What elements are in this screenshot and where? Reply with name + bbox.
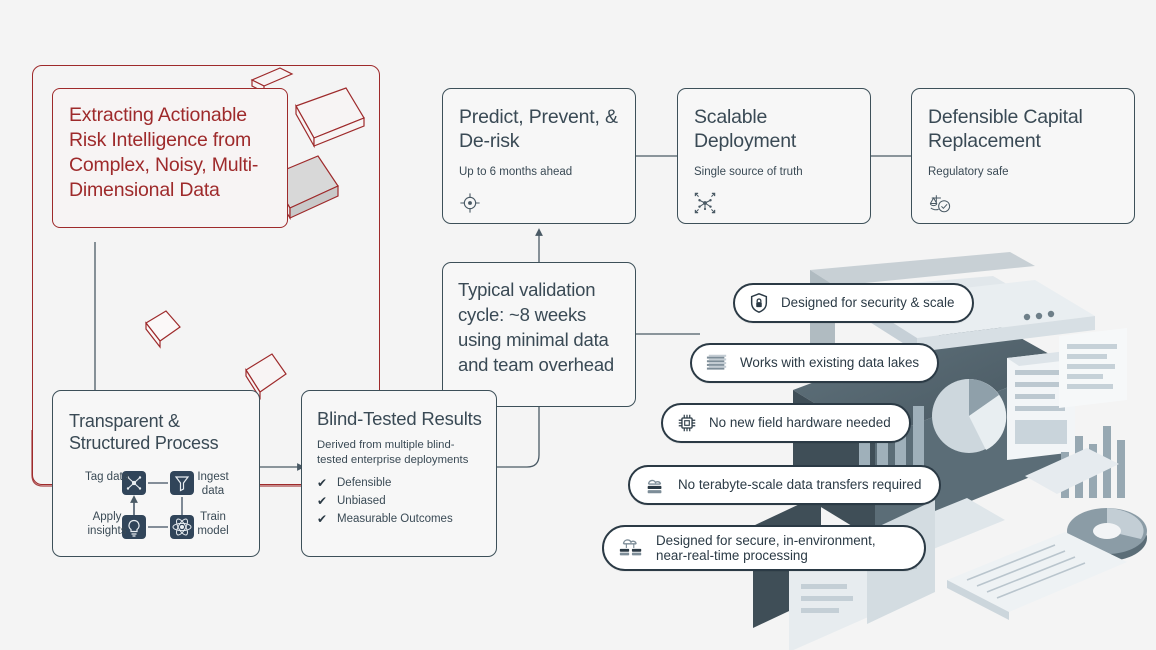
list-item-label: Unbiased xyxy=(337,492,386,510)
card-predict-prevent-derisk[interactable]: Predict, Prevent, & De-risk Up to 6 mont… xyxy=(442,88,636,224)
check-icon: ✔ xyxy=(317,492,329,510)
card-title: Defensible Capital Replacement xyxy=(928,105,1118,153)
card-title: Transparent & Structured Process xyxy=(69,410,243,454)
crosshair-target-icon xyxy=(459,192,619,219)
card-title: Typical validation cycle: ~8 weeks using… xyxy=(458,277,620,377)
pill-label: No terabyte-scale data transfers require… xyxy=(678,477,921,493)
list-item: ✔ Defensible xyxy=(317,474,482,492)
pill-designed-for-security-and-scale[interactable]: Designed for security & scale xyxy=(733,283,974,323)
results-checklist: ✔ Defensible ✔ Unbiased ✔ Measurable Out… xyxy=(317,474,482,528)
card-subtitle: Regulatory safe xyxy=(928,165,1118,180)
card-subtitle: Derived from multiple blind-tested enter… xyxy=(317,438,482,467)
network-scale-icon xyxy=(694,192,854,219)
check-icon: ✔ xyxy=(317,510,329,528)
headline-card: Extracting Actionable Risk Intelligence … xyxy=(52,88,288,228)
list-item: ✔ Measurable Outcomes xyxy=(317,510,482,528)
decorative-book-small xyxy=(138,305,188,355)
card-title: Scalable Deployment xyxy=(694,105,854,153)
pill-no-new-field-hardware-needed[interactable]: No new field hardware needed xyxy=(661,403,911,443)
pill-label: Designed for security & scale xyxy=(781,295,954,311)
pill-label: Works with existing data lakes xyxy=(740,355,919,371)
data-grid-icon xyxy=(705,352,729,374)
card-subtitle: Single source of truth xyxy=(694,165,854,180)
card-scalable-deployment[interactable]: Scalable Deployment Single source of tru… xyxy=(677,88,871,224)
process-label-train-model: Train model xyxy=(185,510,241,538)
pill-designed-for-secure-in-environment-processing[interactable]: Designed for secure, in-environment, nea… xyxy=(602,525,926,571)
list-item-label: Defensible xyxy=(337,474,391,492)
process-label-apply-insights: Apply insights xyxy=(79,510,135,538)
infographic-canvas: Extracting Actionable Risk Intelligence … xyxy=(0,0,1156,650)
list-item-label: Measurable Outcomes xyxy=(337,510,453,528)
pill-label: Designed for secure, in-environment, nea… xyxy=(656,533,906,563)
pill-label: No new field hardware needed xyxy=(709,415,891,431)
process-label-tag-data: Tag data xyxy=(79,470,135,484)
card-blind-tested-results[interactable]: Blind-Tested Results Derived from multip… xyxy=(301,390,497,557)
card-typical-validation-cycle[interactable]: Typical validation cycle: ~8 weeks using… xyxy=(442,262,636,407)
page-title: Extracting Actionable Risk Intelligence … xyxy=(69,103,271,203)
scales-check-icon xyxy=(928,192,1118,219)
card-title: Predict, Prevent, & De-risk xyxy=(459,105,619,153)
shield-lock-icon xyxy=(748,292,770,314)
list-item: ✔ Unbiased xyxy=(317,492,482,510)
pill-no-terabyte-scale-data-transfers-required[interactable]: No terabyte-scale data transfers require… xyxy=(628,465,941,505)
check-icon: ✔ xyxy=(317,474,329,492)
card-transparent-structured-process[interactable]: Transparent & Structured Process Tag dat… xyxy=(52,390,260,557)
card-title: Blind-Tested Results xyxy=(317,407,482,430)
pill-works-with-existing-data-lakes[interactable]: Works with existing data lakes xyxy=(690,343,939,383)
chip-icon xyxy=(676,412,698,434)
card-defensible-capital-replacement[interactable]: Defensible Capital Replacement Regulator… xyxy=(911,88,1135,224)
process-diagram: Tag data Ingest data Apply insights Trai… xyxy=(69,468,247,546)
card-subtitle: Up to 6 months ahead xyxy=(459,165,619,180)
cloud-servers-icon xyxy=(617,535,645,561)
cloud-server-icon xyxy=(643,474,667,496)
process-label-ingest-data: Ingest data xyxy=(185,470,241,498)
